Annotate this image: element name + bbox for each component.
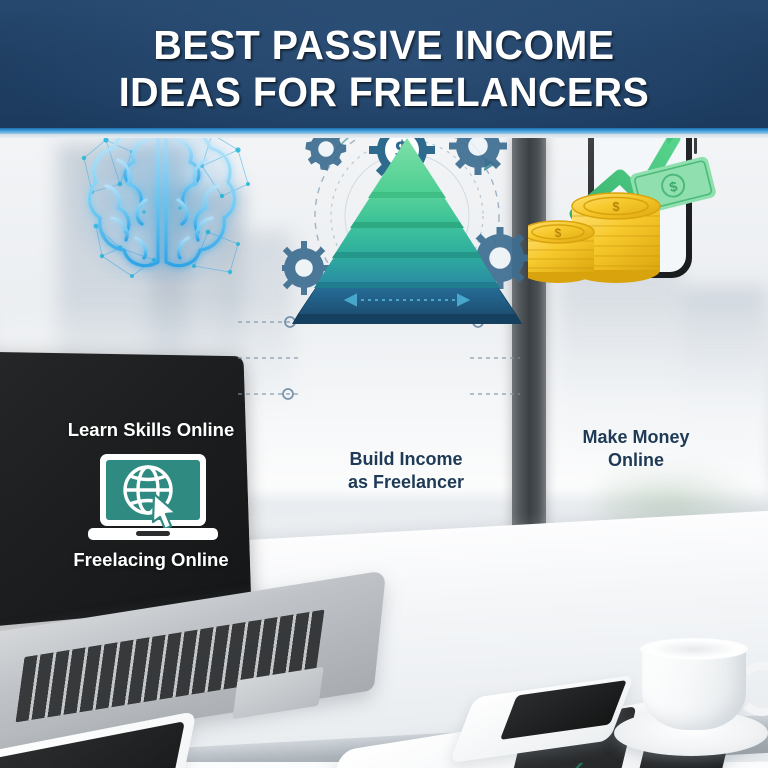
label-learn-skills-online: Learn Skills Online [38, 418, 264, 441]
poster-title: BEST PASSIVE INCOME IDEAS FOR FREELANCER… [0, 22, 768, 116]
laptop-globe-cursor-icon [84, 452, 222, 548]
title-line-2: IDEAS FOR FREELANCERS [15, 69, 752, 116]
svg-text:$: $ [555, 226, 562, 240]
label-build-income-line2: as Freelancer [348, 472, 464, 492]
label-make-money-line2: Online [608, 450, 664, 470]
svg-text:$: $ [612, 199, 620, 214]
infographic-poster: $ [0, 0, 768, 768]
label-build-income-as-freelancer: Build Income as Freelancer [306, 448, 506, 493]
coin-stack-short: $ [528, 221, 594, 283]
header-accent-bar-secondary [0, 134, 768, 138]
label-build-income-line1: Build Income [349, 449, 462, 469]
title-line-1: BEST PASSIVE INCOME [15, 22, 752, 69]
label-freelacing-online: Freelacing Online [38, 548, 264, 571]
label-make-money-online: Make Money Online [548, 426, 724, 471]
label-make-money-line1: Make Money [582, 427, 689, 447]
